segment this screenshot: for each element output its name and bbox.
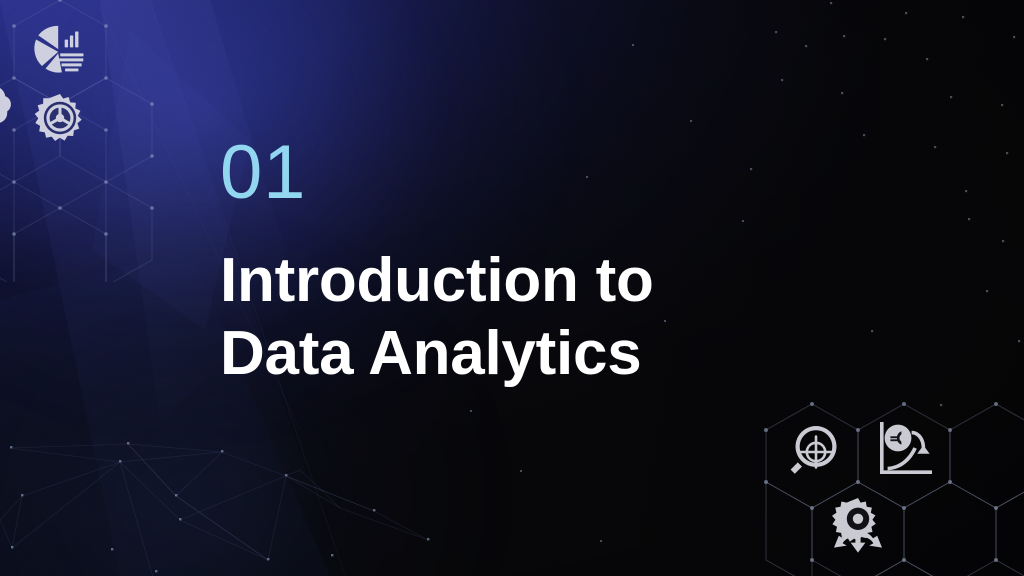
pie-bar-chart-icon (34, 26, 83, 73)
page-title: Introduction to Data Analytics (220, 244, 860, 390)
slide-content: 01 Introduction to Data Analytics (220, 138, 860, 390)
section-number: 01 (220, 138, 860, 208)
bottom-right-icon-cluster (750, 390, 1024, 576)
currency-growth-chart-icon (880, 422, 932, 474)
presentation-slide: 01 Introduction to Data Analytics (0, 0, 1024, 576)
gear-branching-arrows-icon (832, 498, 882, 553)
page-title-line-1: Introduction to (220, 244, 860, 317)
magnifier-grid-icon (791, 426, 837, 474)
gear-wheel-icon (35, 94, 82, 141)
brain-bulb-icon (0, 85, 11, 141)
top-left-icon-cluster (0, 0, 220, 282)
page-title-line-2: Data Analytics (220, 317, 860, 390)
